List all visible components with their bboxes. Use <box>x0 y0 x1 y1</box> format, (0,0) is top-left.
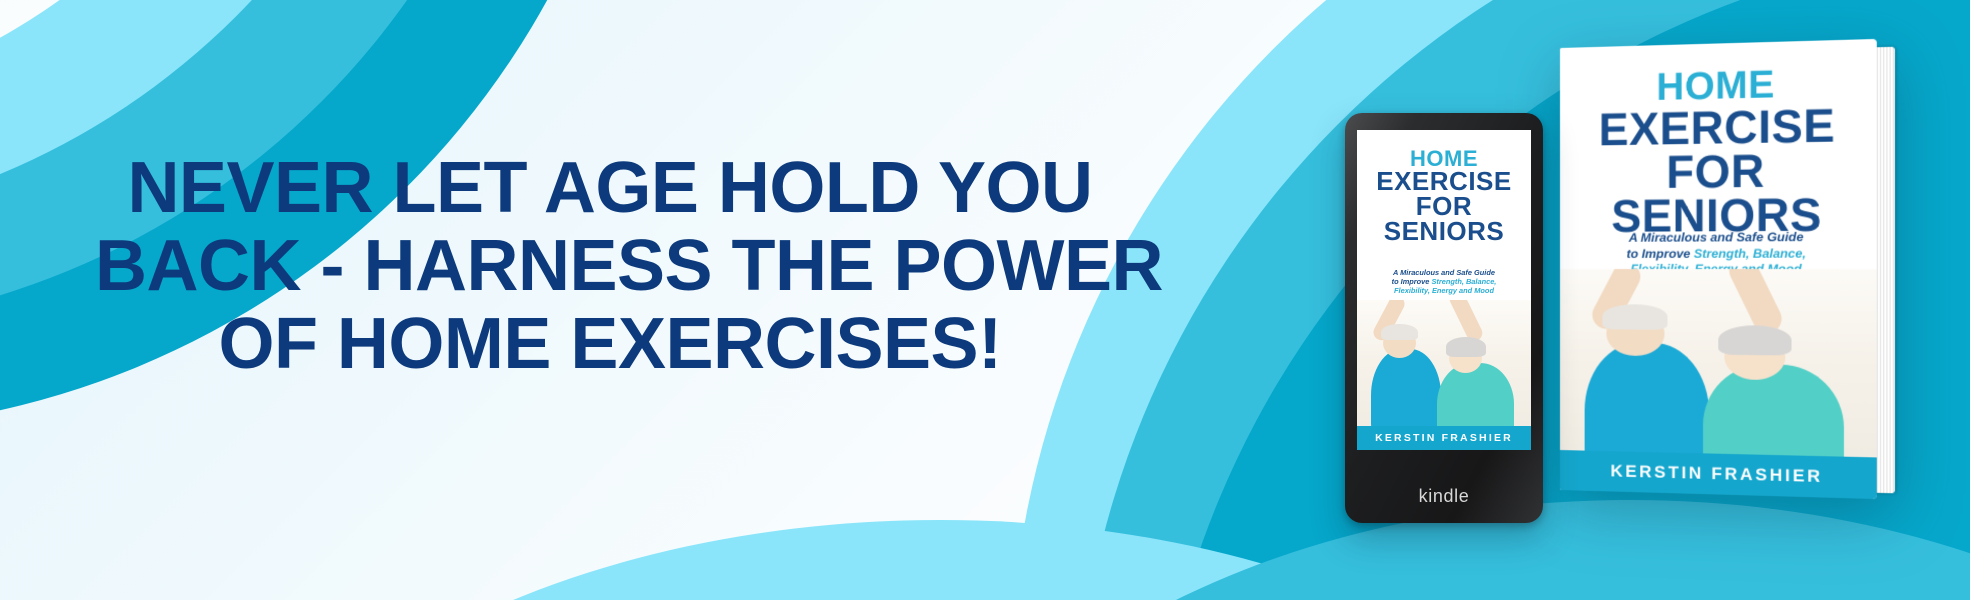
kindle-brand-label: kindle <box>1345 486 1543 507</box>
promo-banner: NEVER LET AGE HOLD YOU BACK - HARNESS TH… <box>0 0 1970 600</box>
kindle-device[interactable]: HOME EXERCISE FOR SENIORS A Miraculous a… <box>1345 113 1543 523</box>
kindle-cover-title-for-seniors: FOR SENIORS <box>1364 194 1524 244</box>
headline-line-3: OF HOME EXERCISES! <box>95 306 1125 384</box>
kindle-cover-author-name: KERSTIN FRASHIER <box>1375 432 1513 444</box>
paperback-book[interactable]: HOME EXERCISE FOR SENIORS A Miraculous a… <box>1560 39 1877 499</box>
book-front-cover: HOME EXERCISE FOR SENIORS A Miraculous a… <box>1560 39 1877 499</box>
headline-line-2: BACK - HARNESS THE POWER <box>95 228 1125 306</box>
kindle-cover-subtitle-line-1: A Miraculous and Safe Guide <box>1393 268 1495 277</box>
kindle-cover-title-exercise: EXERCISE <box>1364 169 1524 194</box>
cover-subtitle-line-2b: Strength, Balance, <box>1694 246 1806 261</box>
cover-subtitle-line-1: A Miraculous and Safe Guide <box>1629 230 1804 245</box>
cover-title-exercise: EXERCISE <box>1572 102 1863 151</box>
kindle-cover-subtitle-line-3: Flexibility, Energy and Mood <box>1394 286 1494 295</box>
cover-artwork: HOME EXERCISE FOR SENIORS A Miraculous a… <box>1560 39 1877 499</box>
kindle-cover-subtitle-line-2b: Strength, Balance, <box>1431 277 1496 286</box>
cover-title-for-seniors: FOR SENIORS <box>1572 147 1863 238</box>
cover-subtitle-line-2a: to Improve <box>1627 246 1694 260</box>
kindle-cover-author-band: KERSTIN FRASHIER <box>1357 426 1531 450</box>
page-title: NEVER LET AGE HOLD YOU BACK - HARNESS TH… <box>95 150 1125 383</box>
kindle-cover-title: HOME EXERCISE FOR SENIORS <box>1364 148 1524 244</box>
cover-title: HOME EXERCISE FOR SENIORS <box>1572 65 1863 239</box>
kindle-cover-subtitle: A Miraculous and Safe Guide to Improve S… <box>1367 268 1520 295</box>
kindle-cover-artwork: HOME EXERCISE FOR SENIORS A Miraculous a… <box>1357 130 1531 450</box>
cover-author-name: KERSTIN FRASHIER <box>1610 461 1822 487</box>
kindle-screen: HOME EXERCISE FOR SENIORS A Miraculous a… <box>1357 130 1531 450</box>
kindle-cover-subtitle-line-2a: to Improve <box>1392 277 1432 286</box>
headline-line-1: NEVER LET AGE HOLD YOU <box>95 150 1125 228</box>
